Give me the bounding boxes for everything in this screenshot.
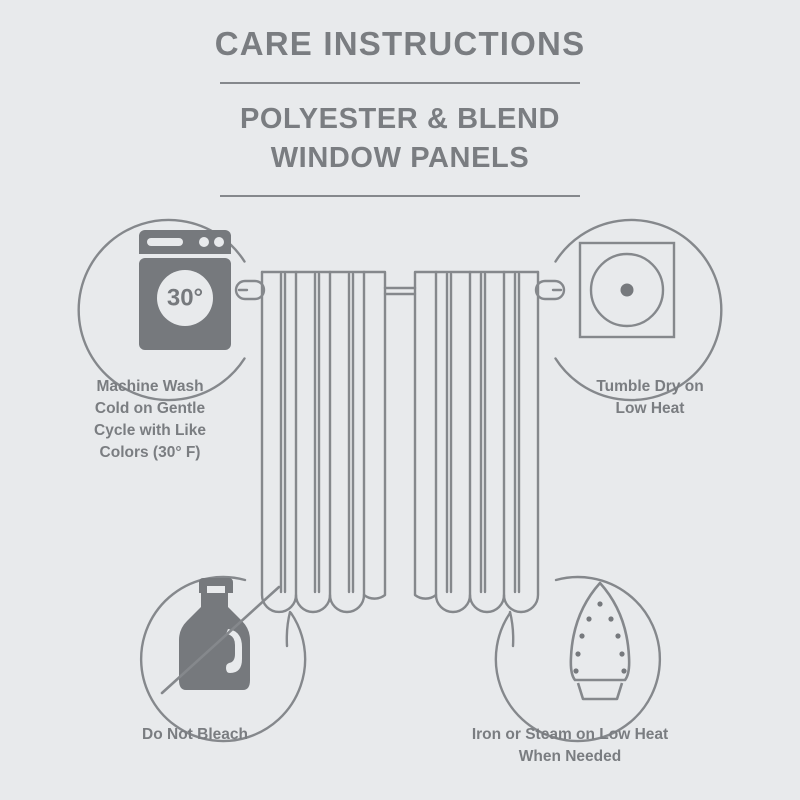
iron-icon [571, 583, 629, 699]
iron-ring [496, 577, 660, 741]
curtain-panel-right [415, 272, 538, 612]
no-bleach-icon [179, 578, 250, 690]
curtain-fold-left [287, 612, 290, 646]
curtain-panels-on-rod [236, 272, 564, 646]
caption-tumble-dry: Tumble Dry on Low Heat [540, 376, 760, 420]
caption-iron: Iron or Steam on Low Heat When Needed [440, 724, 700, 768]
symbol-machine-wash: 30° [79, 220, 245, 400]
caption-do-not-bleach: Do Not Bleach [80, 724, 310, 746]
curtain-rod [385, 288, 415, 294]
symbol-tumble-dry [556, 220, 722, 400]
rod-finial-right [536, 281, 564, 299]
washing-machine-icon: 30° [139, 230, 231, 350]
care-instructions-infographic: CARE INSTRUCTIONS POLYESTER & BLENDWINDO… [0, 0, 800, 800]
curtain-fold-right [510, 612, 513, 646]
symbol-do-not-bleach [141, 577, 305, 741]
curtain-panel-left [262, 272, 385, 612]
symbol-iron [496, 577, 660, 741]
wash-temperature-badge: 30° [167, 285, 203, 312]
caption-machine-wash: Machine Wash Cold on Gentle Cycle with L… [40, 376, 260, 464]
rod-finial-left [236, 281, 264, 299]
tumble-dry-center-dot [621, 284, 634, 297]
